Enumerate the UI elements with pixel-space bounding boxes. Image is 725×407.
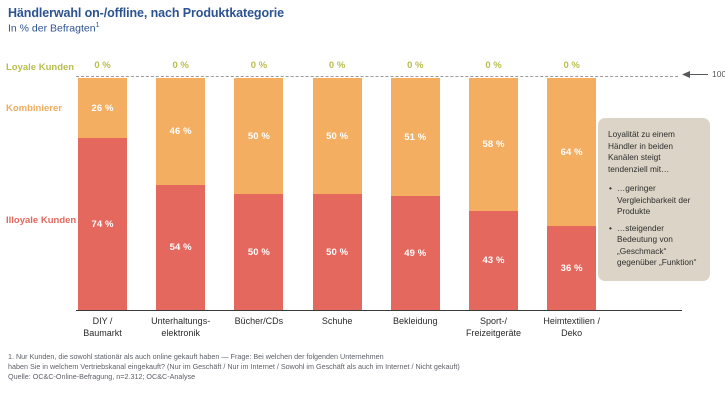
x-axis-category-label-line: DIY / (67, 316, 138, 328)
stacked-bar[interactable]: 46 %54 % (156, 78, 205, 310)
x-axis-category-label: Unterhaltungs-elektronik (145, 316, 216, 339)
stacked-bar[interactable]: 50 %50 % (313, 78, 362, 310)
bar-segment-illoyale-kunden[interactable]: 54 % (156, 185, 205, 310)
x-axis-category-label-line: Bekleidung (380, 316, 451, 328)
bar-segment-kombinierer[interactable]: 46 % (156, 78, 205, 185)
bar-segment-illoyale-kunden[interactable]: 50 % (234, 194, 283, 310)
x-axis-category-label-line: Heimtextilien / (536, 316, 607, 328)
bar-segment-illoyale-kunden[interactable]: 49 % (391, 196, 440, 310)
footnote-line-1: 1. Nur Kunden, die sowohl stationär als … (8, 352, 708, 362)
x-axis-category-label-line: Baumarkt (67, 328, 138, 340)
insight-callout-box: Loyalität zu einem Händler in beiden Kan… (598, 118, 710, 281)
bar-value-illoyale-kunden: 36 % (561, 263, 583, 274)
bar-value-loyale-kunden: 0 % (78, 60, 127, 71)
x-axis-category-label-line: Schuhe (302, 316, 373, 328)
bar-value-kombinierer: 50 % (248, 131, 270, 142)
bar-value-kombinierer: 50 % (326, 131, 348, 142)
bar-value-kombinierer: 64 % (561, 147, 583, 158)
x-axis-category-label: Bekleidung (380, 316, 451, 328)
bar-value-kombinierer: 51 % (404, 132, 426, 143)
bar-value-loyale-kunden: 0 % (313, 60, 362, 71)
footnote-line-3: Quelle: OC&C-Online-Befragung, n=2.312; … (8, 372, 708, 382)
bar-value-loyale-kunden: 0 % (234, 60, 283, 71)
bar-segment-illoyale-kunden[interactable]: 74 % (78, 138, 127, 310)
bar-value-illoyale-kunden: 49 % (404, 248, 426, 259)
bar-segment-kombinierer[interactable]: 64 % (547, 78, 596, 226)
bar-value-kombinierer: 58 % (482, 139, 504, 150)
bar-segment-illoyale-kunden[interactable]: 50 % (313, 194, 362, 310)
bar-value-kombinierer: 46 % (170, 126, 192, 137)
x-axis-category-label: DIY /Baumarkt (67, 316, 138, 339)
bar-segment-kombinierer[interactable]: 26 % (78, 78, 127, 138)
bar-value-illoyale-kunden: 50 % (248, 247, 270, 258)
x-axis-category-label-line: elektronik (145, 328, 216, 340)
bar-segment-kombinierer[interactable]: 50 % (234, 78, 283, 194)
x-axis-category-label: Heimtextilien /Deko (536, 316, 607, 339)
bar-value-kombinierer: 26 % (91, 103, 113, 114)
x-axis-category-label-line: Sport-/ (458, 316, 529, 328)
bar-value-illoyale-kunden: 74 % (91, 219, 113, 230)
bar-value-loyale-kunden: 0 % (156, 60, 205, 71)
bar-segment-illoyale-kunden[interactable]: 36 % (547, 226, 596, 310)
bar-segment-illoyale-kunden[interactable]: 43 % (469, 211, 518, 310)
footnotes: 1. Nur Kunden, die sowohl stationär als … (8, 352, 708, 382)
stacked-bar[interactable]: 50 %50 % (234, 78, 283, 310)
x-axis-category-label: Schuhe (302, 316, 373, 328)
x-axis-category-label-line: Deko (536, 328, 607, 340)
stacked-bar[interactable]: 51 %49 % (391, 78, 440, 310)
bar-value-loyale-kunden: 0 % (547, 60, 596, 71)
stacked-bar[interactable]: 58 %43 % (469, 78, 518, 310)
x-axis-category-label-line: Unterhaltungs- (145, 316, 216, 328)
callout-lead-text: Loyalität zu einem Händler in beiden Kan… (608, 129, 701, 175)
bar-value-illoyale-kunden: 54 % (170, 242, 192, 253)
bar-value-loyale-kunden: 0 % (469, 60, 518, 71)
x-axis-category-label: Sport-/Freizeitgeräte (458, 316, 529, 339)
x-axis-category-label: Bücher/CDs (223, 316, 294, 328)
x-axis-category-label-line: Freizeitgeräte (458, 328, 529, 340)
callout-bullet-list: …geringer Vergleichbarkeit der Produkte…… (608, 183, 701, 269)
callout-bullet-item: …steigender Bedeutung von „Geschmack“ ge… (617, 223, 701, 269)
footnote-line-2: haben Sie in welchem Vertriebskanal eing… (8, 362, 708, 372)
stacked-bar[interactable]: 64 %36 % (547, 78, 596, 310)
bar-segment-kombinierer[interactable]: 50 % (313, 78, 362, 194)
bar-value-illoyale-kunden: 43 % (482, 255, 504, 266)
bar-segment-kombinierer[interactable]: 58 % (469, 78, 518, 211)
bar-value-illoyale-kunden: 50 % (326, 247, 348, 258)
x-axis-category-label-line: Bücher/CDs (223, 316, 294, 328)
stacked-bar[interactable]: 26 %74 % (78, 78, 127, 310)
bar-segment-kombinierer[interactable]: 51 % (391, 78, 440, 196)
callout-bullet-item: …geringer Vergleichbarkeit der Produkte (617, 183, 701, 218)
bar-value-loyale-kunden: 0 % (391, 60, 440, 71)
